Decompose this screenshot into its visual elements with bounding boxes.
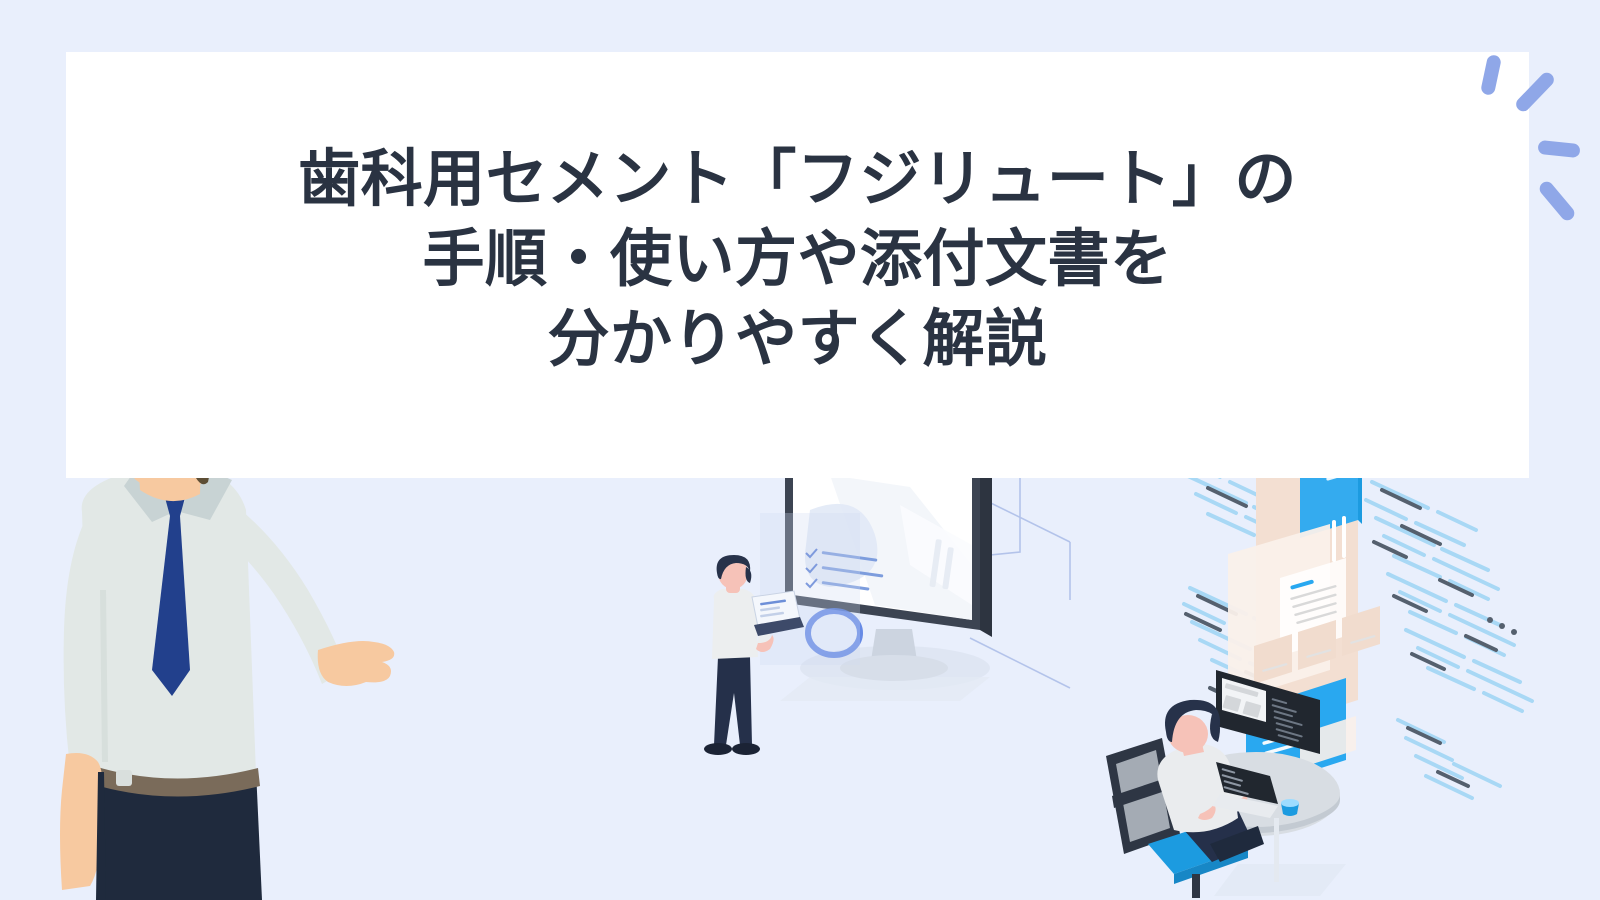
isometric-developer-desk <box>1088 648 1388 900</box>
poster-canvas: 歯科用セメント「フジリュート」の 手順・使い方や添付文書を 分かりやすく解説 <box>0 0 1600 900</box>
standing-person-with-laptop <box>696 553 806 778</box>
page-title: 歯科用セメント「フジリュート」の 手順・使い方や添付文書を 分かりやすく解説 <box>66 140 1529 380</box>
dash-diagonal-2 <box>1537 179 1577 223</box>
dash-horizontal <box>1537 140 1580 158</box>
